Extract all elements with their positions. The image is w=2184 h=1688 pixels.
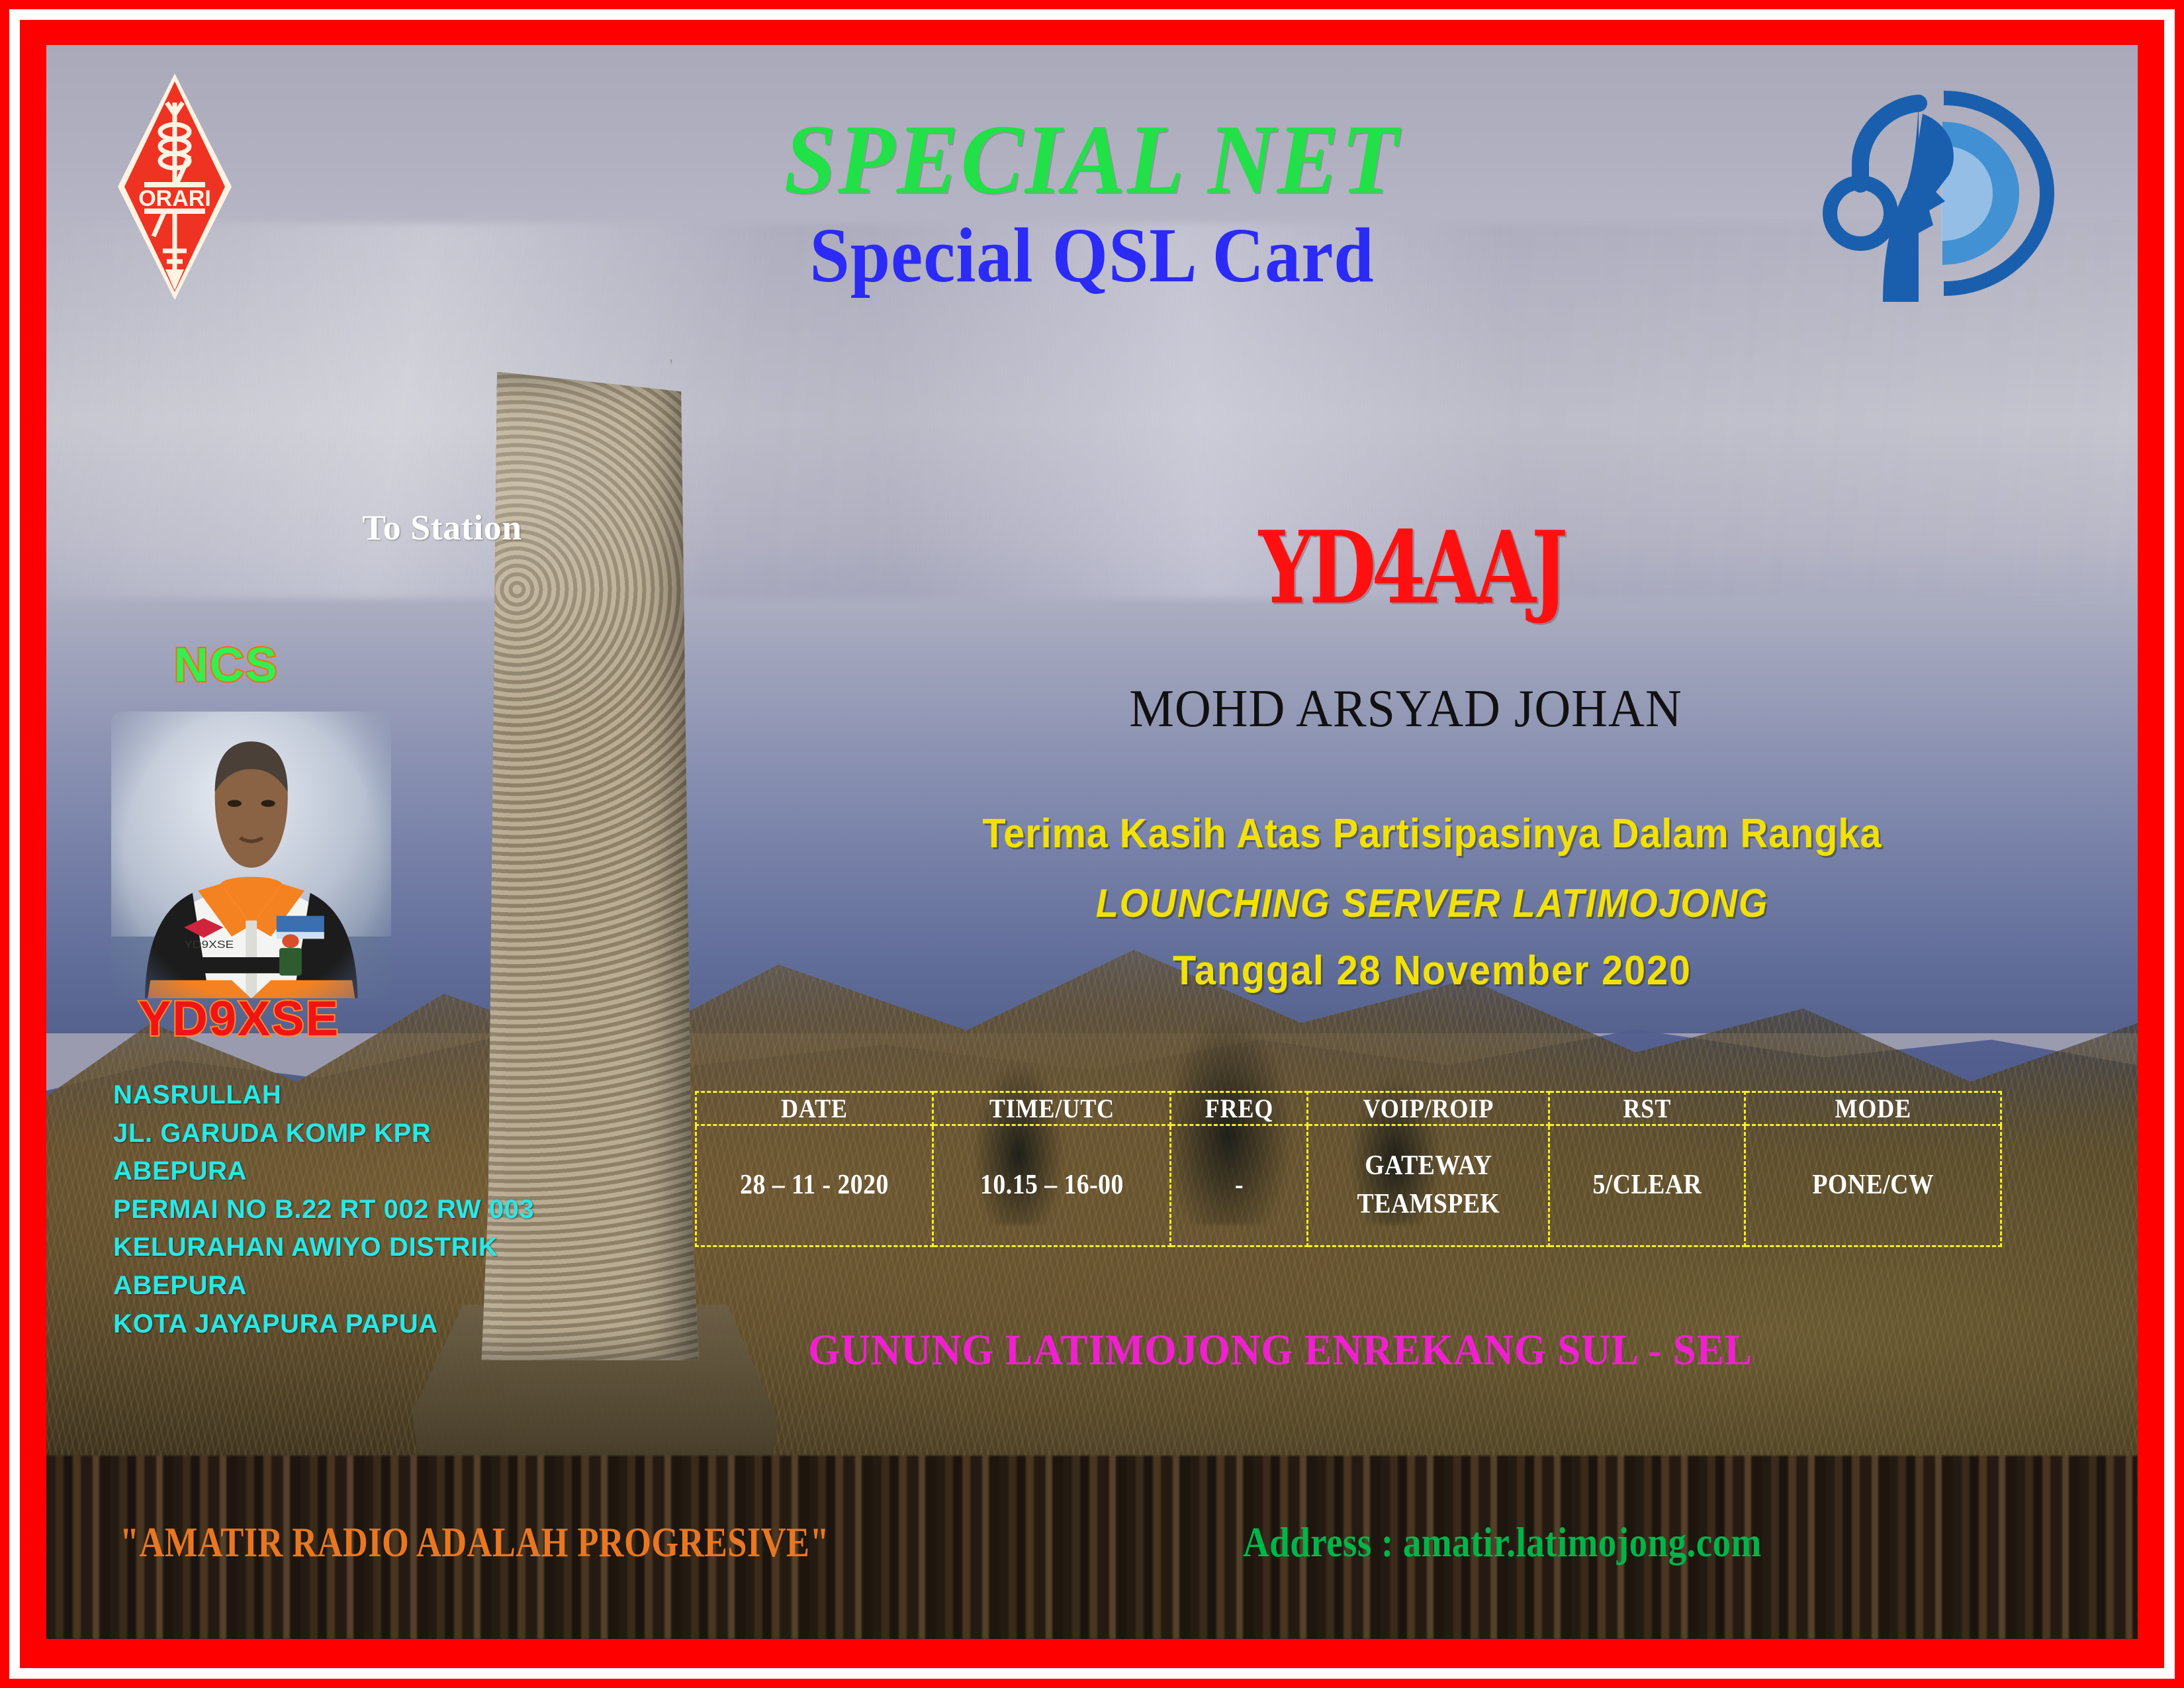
table-header-row: DATE TIME/UTC FREQ VOIP/ROIP RST MODE [696,1092,2001,1125]
ncs-label: NCS [174,638,279,692]
cell-time-utc: 10.15 – 16-00 [945,1125,1159,1246]
column-header-time-utc: TIME/UTC [945,1092,1159,1125]
column-header-date: DATE [707,1092,921,1125]
column-header-rst: RST [1559,1092,1735,1125]
cell-date: 28 – 11 - 2020 [707,1125,921,1246]
to-station-label: To Station [362,507,522,548]
location-line: GUNUNG LATIMOJONG ENREKANG SUL - SEL [671,1325,1890,1376]
page-title: SPECIAL NET [109,103,2075,216]
address-line: PERMAI NO B.22 RT 002 RW 003 [113,1191,534,1229]
background-photo-mountain-summit: ORARI [46,45,2138,1639]
cell-mode: PONE/CW [1758,1125,1988,1246]
column-header-freq: FREQ [1177,1092,1300,1125]
thanks-line-2: LOUNCHING SERVER LATIMOJONG [892,880,1972,926]
thanks-line-3: Tanggal 28 November 2020 [892,947,1972,994]
cell-rst: 5/CLEAR [1559,1125,1735,1246]
address-line: JL. GARUDA KOMP KPR [113,1115,534,1153]
cell-voip-roip: GATEWAY TEAMSPEK [1320,1125,1537,1246]
address-line: KELURAHAN AWIYO DISTRIK [113,1229,534,1267]
cell-freq: - [1177,1125,1300,1246]
uniform-callsign-patch: YD9XSE [184,938,234,950]
recipient-name: MOHD ARSYAD JOHAN [909,679,1903,739]
table-row: 28 – 11 - 2020 10.15 – 16-00 - GATEWAY T… [696,1125,2001,1246]
column-header-mode: MODE [1758,1092,1988,1125]
ncs-callsign: YD9XSE [138,990,340,1047]
operator-photo: YD9XSE [111,712,391,998]
motto-text: "AMATIR RADIO ADALAH PROGRESIVE" [120,1518,829,1567]
column-header-voip-roip: VOIP/ROIP [1320,1092,1537,1125]
address-line: ABEPURA [113,1152,534,1191]
address-line: ABEPURA [113,1267,534,1305]
thanks-line-1: Terima Kasih Atas Partisipasinya Dalam R… [892,810,1972,857]
address-line: NASRULLAH [113,1076,534,1115]
qsl-card-white-gap: ORARI [9,9,2175,1679]
cell-voip-roip-line-1: GATEWAY [1321,1147,1537,1186]
card-content-overlay: ORARI [46,45,2138,1639]
recipient-callsign: YD4AAJ [983,509,1839,626]
qso-log-table: DATE TIME/UTC FREQ VOIP/ROIP RST MODE 28… [695,1091,2002,1247]
page-subtitle: Special QSL Card [130,211,2054,301]
cell-voip-roip-line-2: TEAMSPEK [1321,1186,1537,1224]
qsl-card-inner-border: ORARI [20,20,2164,1668]
address-line: KOTA JAYAPURA PAPUA [113,1305,534,1344]
web-address-text: Address : amatir.latimojong.com [1243,1518,1762,1567]
qsl-card-outer-border: ORARI [0,0,2184,1688]
station-address-block: NASRULLAH JL. GARUDA KOMP KPR ABEPURA PE… [113,1076,534,1343]
